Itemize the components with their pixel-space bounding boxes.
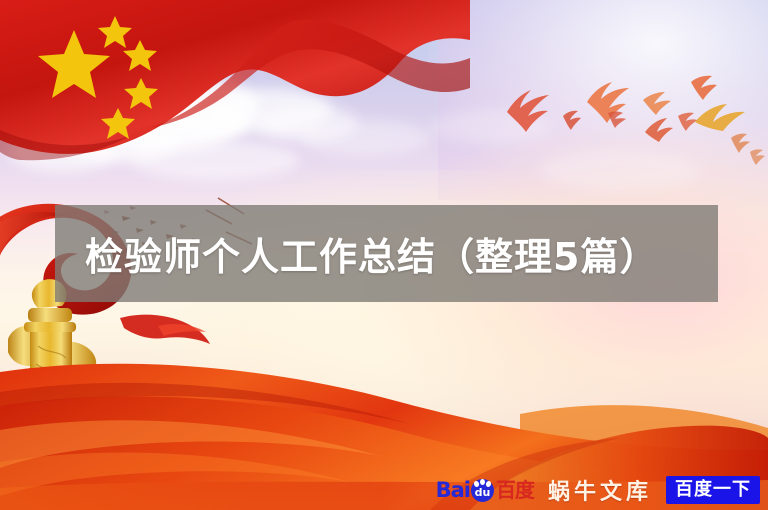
baidu-search-button[interactable]: 百度一下 (666, 476, 760, 505)
baidu-logo-cn-text: 百度 (496, 480, 534, 500)
footer-bar: Bai du 百度 蜗牛文库 百度一下 (0, 470, 768, 510)
site-name-label: 蜗牛文库 (548, 474, 652, 506)
page-title: 检验师个人工作总结（整理5篇） (85, 226, 658, 281)
title-banner: 检验师个人工作总结（整理5篇） (55, 205, 718, 302)
baidu-logo-bai-text: Bai (436, 480, 470, 501)
flying-doves-icon (495, 50, 768, 165)
baidu-paw-icon: du (471, 479, 494, 502)
baidu-logo-du-text: du (471, 487, 494, 499)
baidu-logo[interactable]: Bai du 百度 (436, 478, 534, 502)
poster-image: 检验师个人工作总结（整理5篇） Bai du 百度 蜗牛文库 百度一下 (0, 0, 768, 510)
